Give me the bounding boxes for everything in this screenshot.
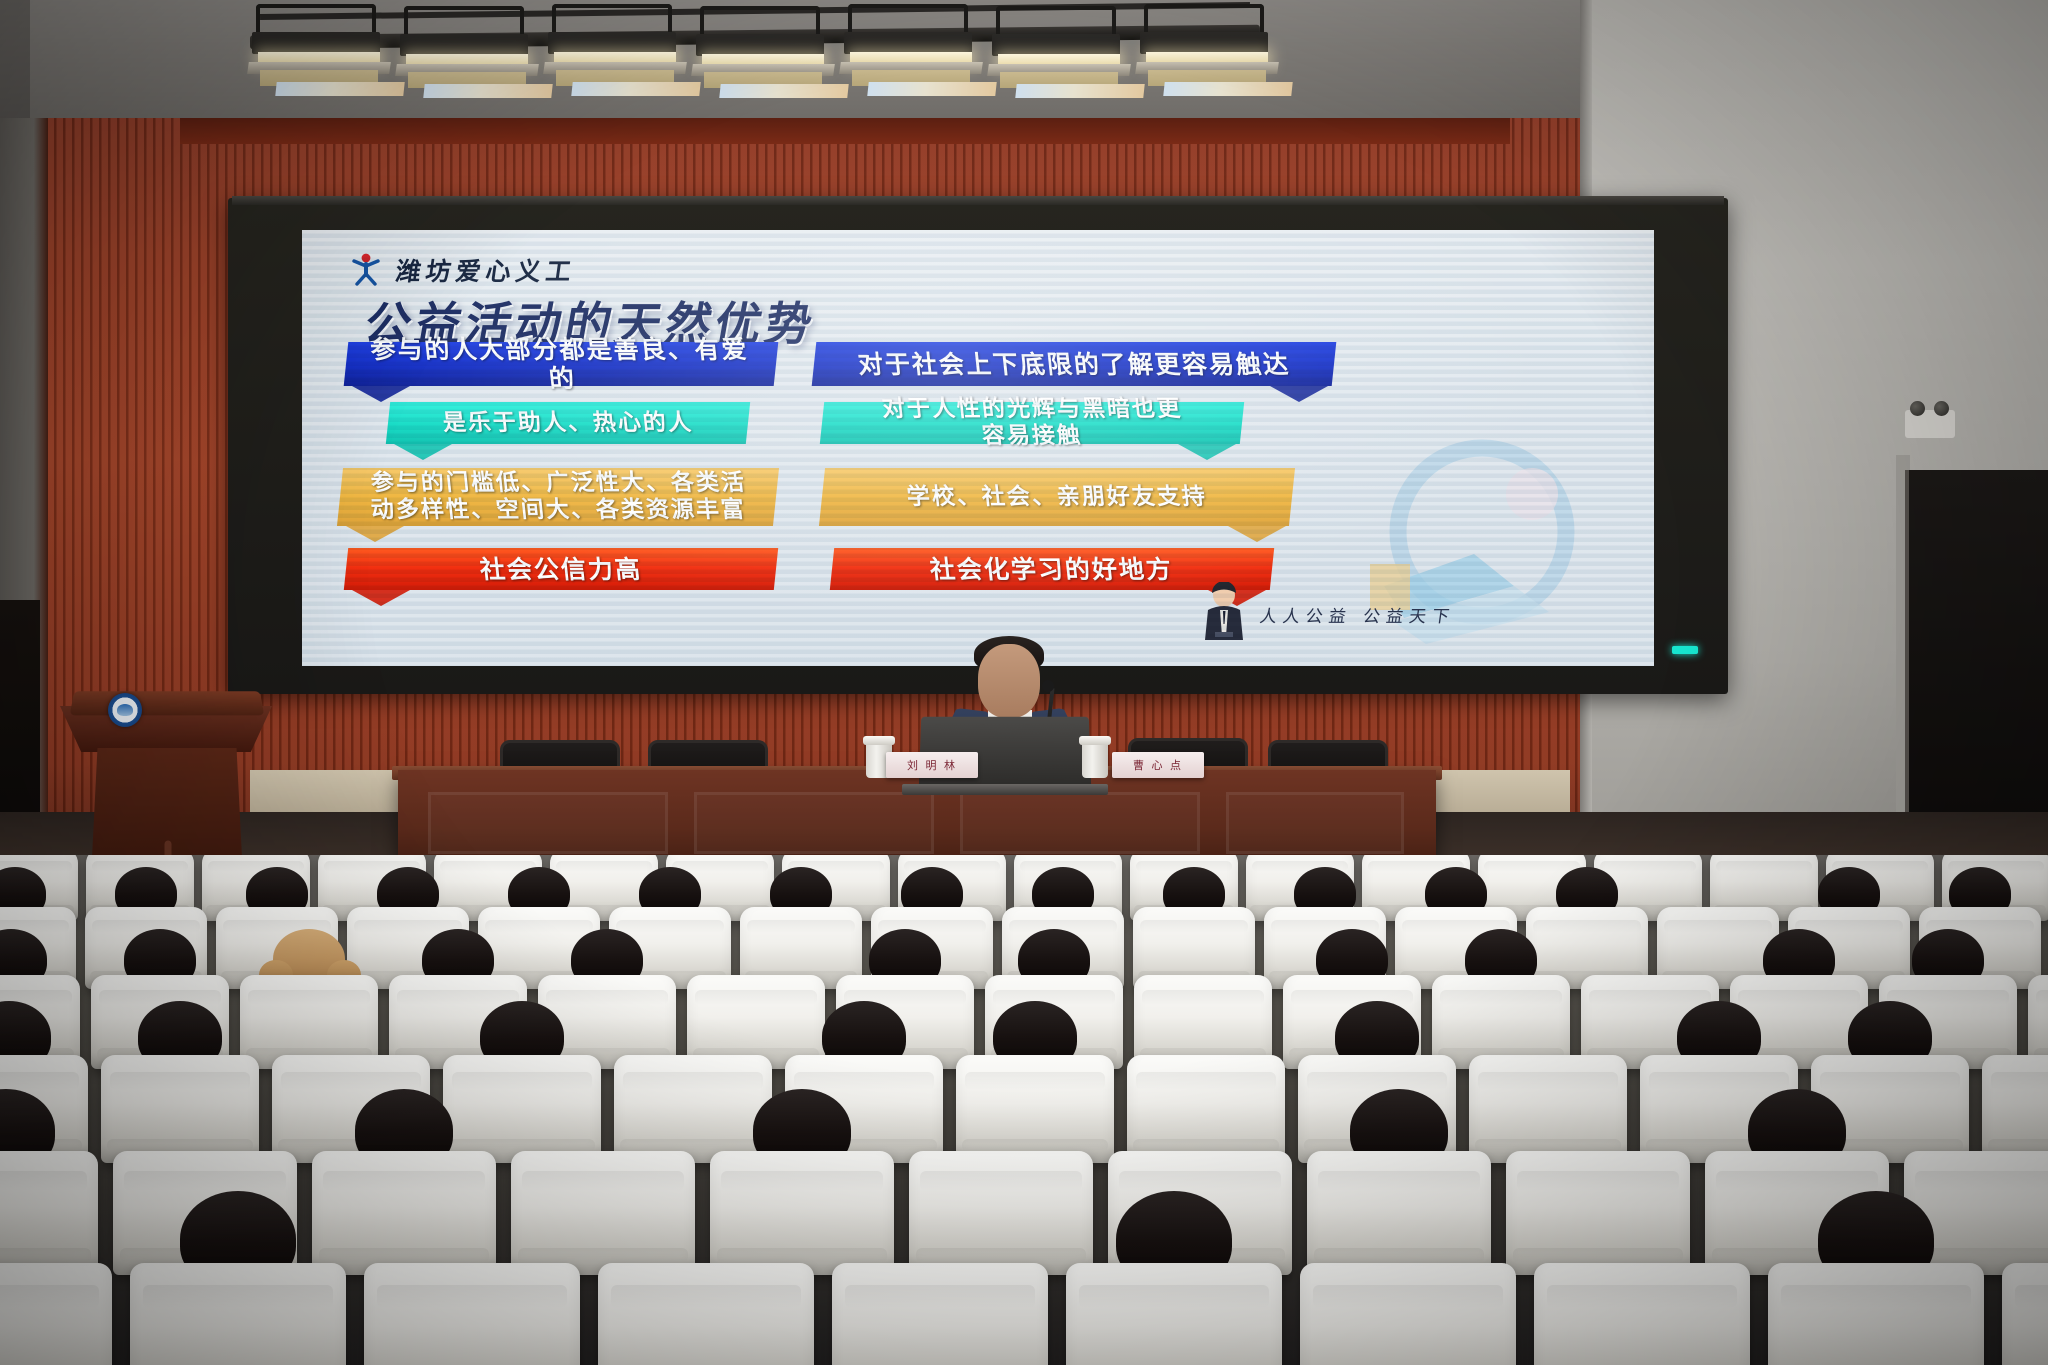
university-seal-icon	[108, 693, 142, 727]
auditorium-scene: 潍坊爱心义工 公益活动的天然优势 参与的人大部分都是善良、有爱的是乐于助人、热心…	[0, 0, 2048, 1365]
audience-seat[interactable]	[443, 1055, 601, 1163]
slide-brand: 潍坊爱心义工	[346, 252, 576, 288]
audience-seat[interactable]	[614, 1055, 772, 1163]
slide-banner-tail	[346, 526, 404, 542]
laptop-base[interactable]	[902, 784, 1108, 795]
audience-seat[interactable]	[101, 1055, 259, 1163]
slide-banner-line: 参与的人大部分都是善良、有爱的	[361, 335, 761, 393]
slide-banner-line: 容易接触	[881, 423, 1184, 450]
slide-banner-line: 社会化学习的好地方	[929, 555, 1175, 584]
slide-banner-line: 社会公信力高	[478, 555, 643, 584]
slide-banner-tail	[394, 444, 452, 460]
slide-banner-left-2: 是乐于助人、热心的人	[386, 402, 750, 444]
audience-seating-area	[0, 855, 2048, 1365]
audience-seat[interactable]	[1127, 1055, 1285, 1163]
presentation-slide: 潍坊爱心义工 公益活动的天然优势 参与的人大部分都是善良、有爱的是乐于助人、热心…	[302, 230, 1654, 666]
audience-seat[interactable]	[1469, 1055, 1627, 1163]
microphone-icon	[1042, 680, 1054, 692]
teacup[interactable]	[1082, 742, 1108, 778]
stage-light-fixture	[544, 4, 704, 99]
audience-seat[interactable]	[710, 1151, 894, 1275]
namecard-left: 刘 明 林	[886, 752, 978, 778]
audience-seat[interactable]	[2002, 1263, 2048, 1365]
slide-banner-line: 对于人性的光辉与黑暗也更	[881, 396, 1184, 423]
slide-banner-tail	[1228, 526, 1286, 542]
stage-light-fixture	[1136, 4, 1296, 99]
audience-seat[interactable]	[1982, 1055, 2048, 1163]
audience-seat[interactable]	[130, 1263, 346, 1365]
volunteer-person-logo-icon	[346, 253, 386, 287]
wall-top-trim	[180, 118, 1510, 144]
stage-light-fixture	[840, 4, 1000, 99]
ceiling-edge	[0, 0, 30, 120]
slide-banner-right-1: 对于社会上下底限的了解更容易触达	[812, 342, 1337, 386]
audience-seat[interactable]	[598, 1263, 814, 1365]
projection-screen-bezel-highlight	[232, 196, 1724, 205]
audience-seat[interactable]	[0, 1151, 98, 1275]
audience-seat[interactable]	[1307, 1151, 1491, 1275]
slide-banner-line: 对于社会上下底限的了解更容易触达	[856, 350, 1291, 379]
slide-banner-left-1: 参与的人大部分都是善良、有爱的	[344, 342, 779, 386]
table-panel	[1226, 792, 1404, 854]
table-panel	[428, 792, 668, 854]
audience-seat[interactable]	[956, 1055, 1114, 1163]
right-exit-door[interactable]	[1905, 470, 2048, 870]
audience-seat[interactable]	[1506, 1151, 1690, 1275]
slide-banner-left-3: 参与的门槛低、广泛性大、各类活动多样性、空间大、各类资源丰富	[337, 468, 779, 526]
slide-banner-line: 参与的门槛低、广泛性大、各类活	[369, 470, 747, 497]
audience-seat[interactable]	[1534, 1263, 1750, 1365]
slide-banner-tail	[352, 590, 410, 606]
audience-seat[interactable]	[909, 1151, 1093, 1275]
projection-screen: 潍坊爱心义工 公益活动的天然优势 参与的人大部分都是善良、有爱的是乐于助人、热心…	[302, 230, 1654, 666]
podium-top	[70, 691, 265, 715]
stage-light-fixture	[248, 4, 408, 99]
stage-light-fixture	[988, 6, 1148, 101]
stage-light-fixture	[396, 6, 556, 101]
emergency-light-icon	[1905, 410, 1955, 438]
mascot-figure-icon	[1202, 582, 1246, 642]
slide-banner-right-2: 对于人性的光辉与黑暗也更容易接触	[820, 402, 1244, 444]
slide-brand-name: 潍坊爱心义工	[393, 252, 578, 288]
audience-seat[interactable]	[1768, 1263, 1984, 1365]
slide-slogan: 人人公益 公益天下	[1258, 602, 1457, 627]
slide-banner-left-4: 社会公信力高	[344, 548, 778, 590]
audience-seat[interactable]	[832, 1263, 1048, 1365]
slide-banner-tail	[1178, 444, 1236, 460]
audience-seat[interactable]	[364, 1263, 580, 1365]
slide-banner-line: 动多样性、空间大、各类资源丰富	[369, 497, 747, 524]
slide-banner-line: 学校、社会、亲朋好友支持	[906, 484, 1209, 511]
audience-seat[interactable]	[1066, 1263, 1282, 1365]
presenter-head	[978, 644, 1040, 718]
namecard-right: 曹 心 点	[1112, 752, 1204, 778]
audience-seat[interactable]	[312, 1151, 496, 1275]
audience-seat[interactable]	[511, 1151, 695, 1275]
table-panel	[694, 792, 934, 854]
slide-banner-line: 是乐于助人、热心的人	[442, 410, 695, 437]
screen-power-indicator-icon	[1672, 646, 1698, 654]
slide-banner-right-3: 学校、社会、亲朋好友支持	[819, 468, 1295, 526]
audience-seat[interactable]	[0, 1263, 112, 1365]
stage-light-fixture	[692, 6, 852, 101]
slide-banner-tail	[1270, 386, 1328, 402]
slide-banner-tail	[352, 386, 410, 402]
audience-seat[interactable]	[1300, 1263, 1516, 1365]
table-panel	[960, 792, 1200, 854]
